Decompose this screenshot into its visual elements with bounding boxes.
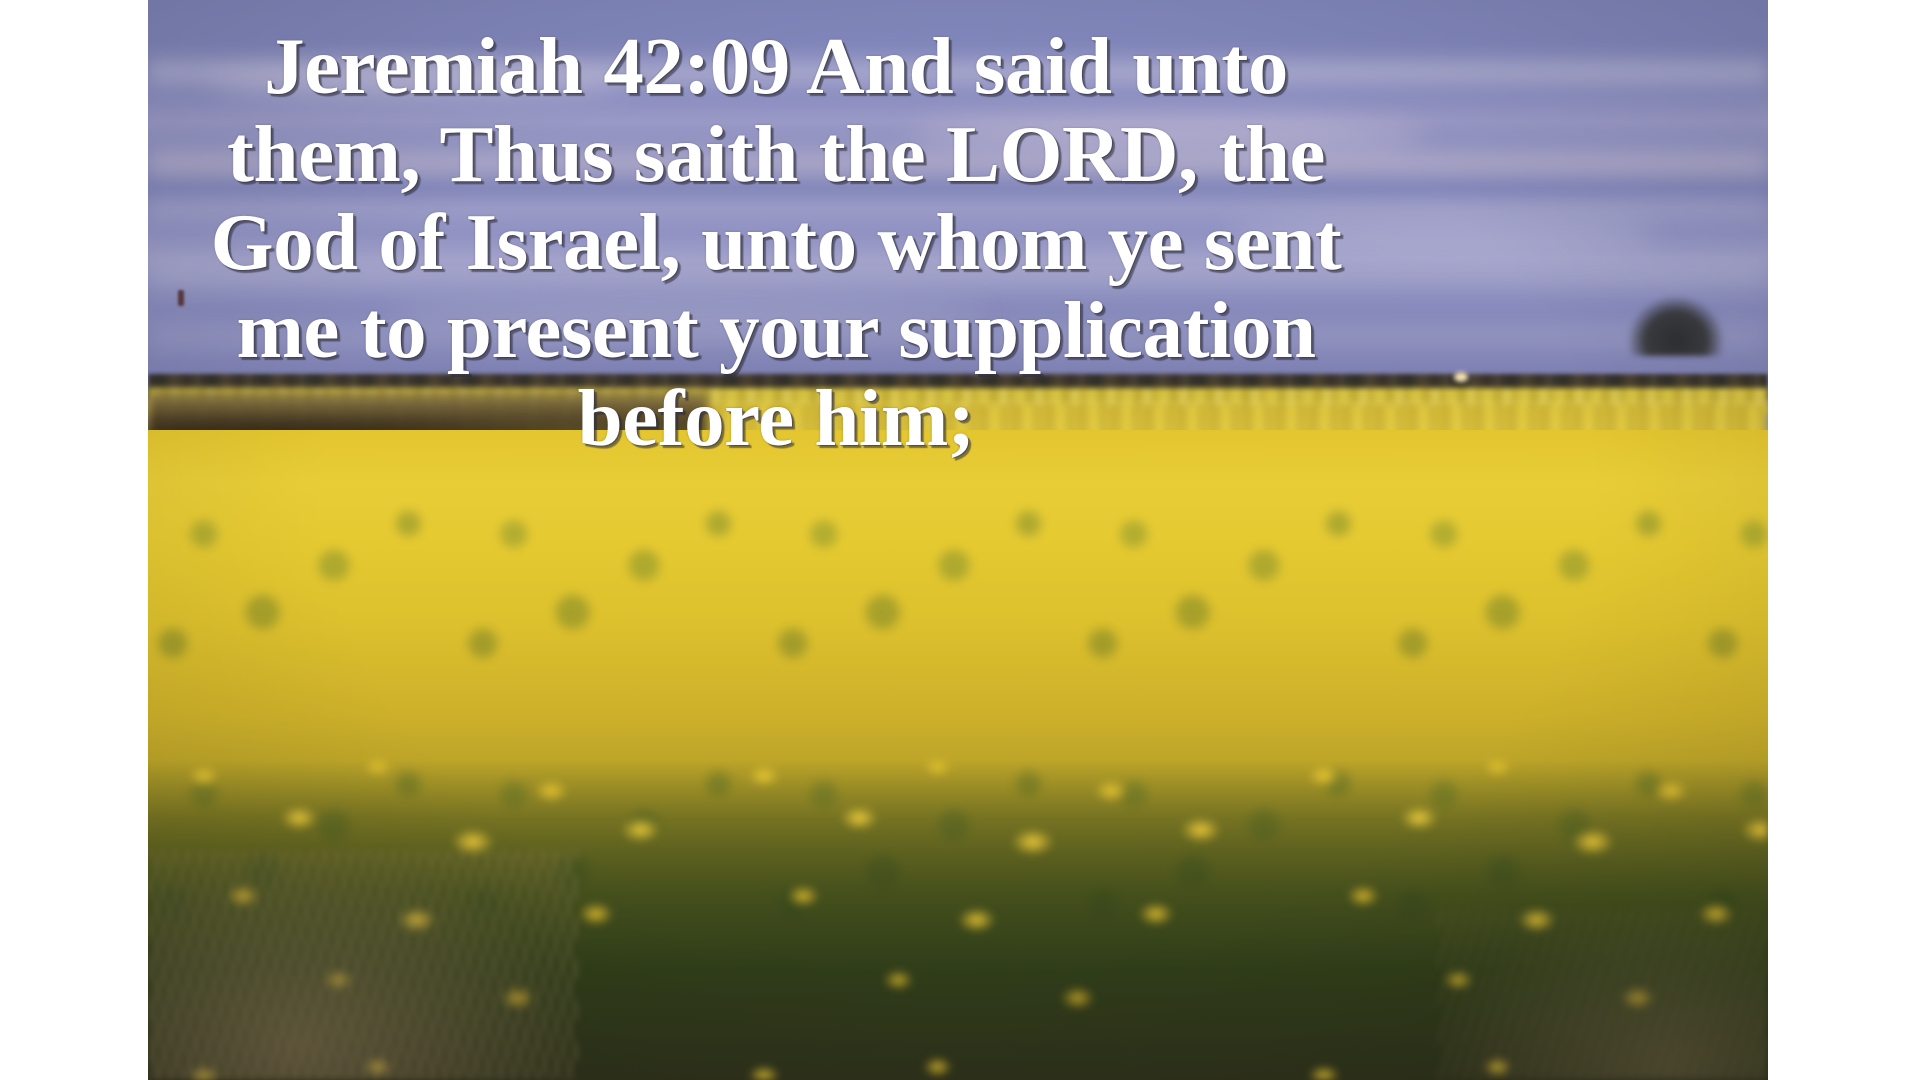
slide-canvas: Jeremiah 42:09 And said unto them, Thus … xyxy=(0,0,1920,1080)
dry-grass-left xyxy=(148,850,578,1080)
horizon-highlight xyxy=(1454,372,1468,382)
distant-shrub xyxy=(1628,296,1724,356)
scripture-verse-text: Jeremiah 42:09 And said unto them, Thus … xyxy=(196,22,1356,462)
dry-grass-right xyxy=(1438,910,1768,1080)
distant-figure xyxy=(178,290,184,306)
